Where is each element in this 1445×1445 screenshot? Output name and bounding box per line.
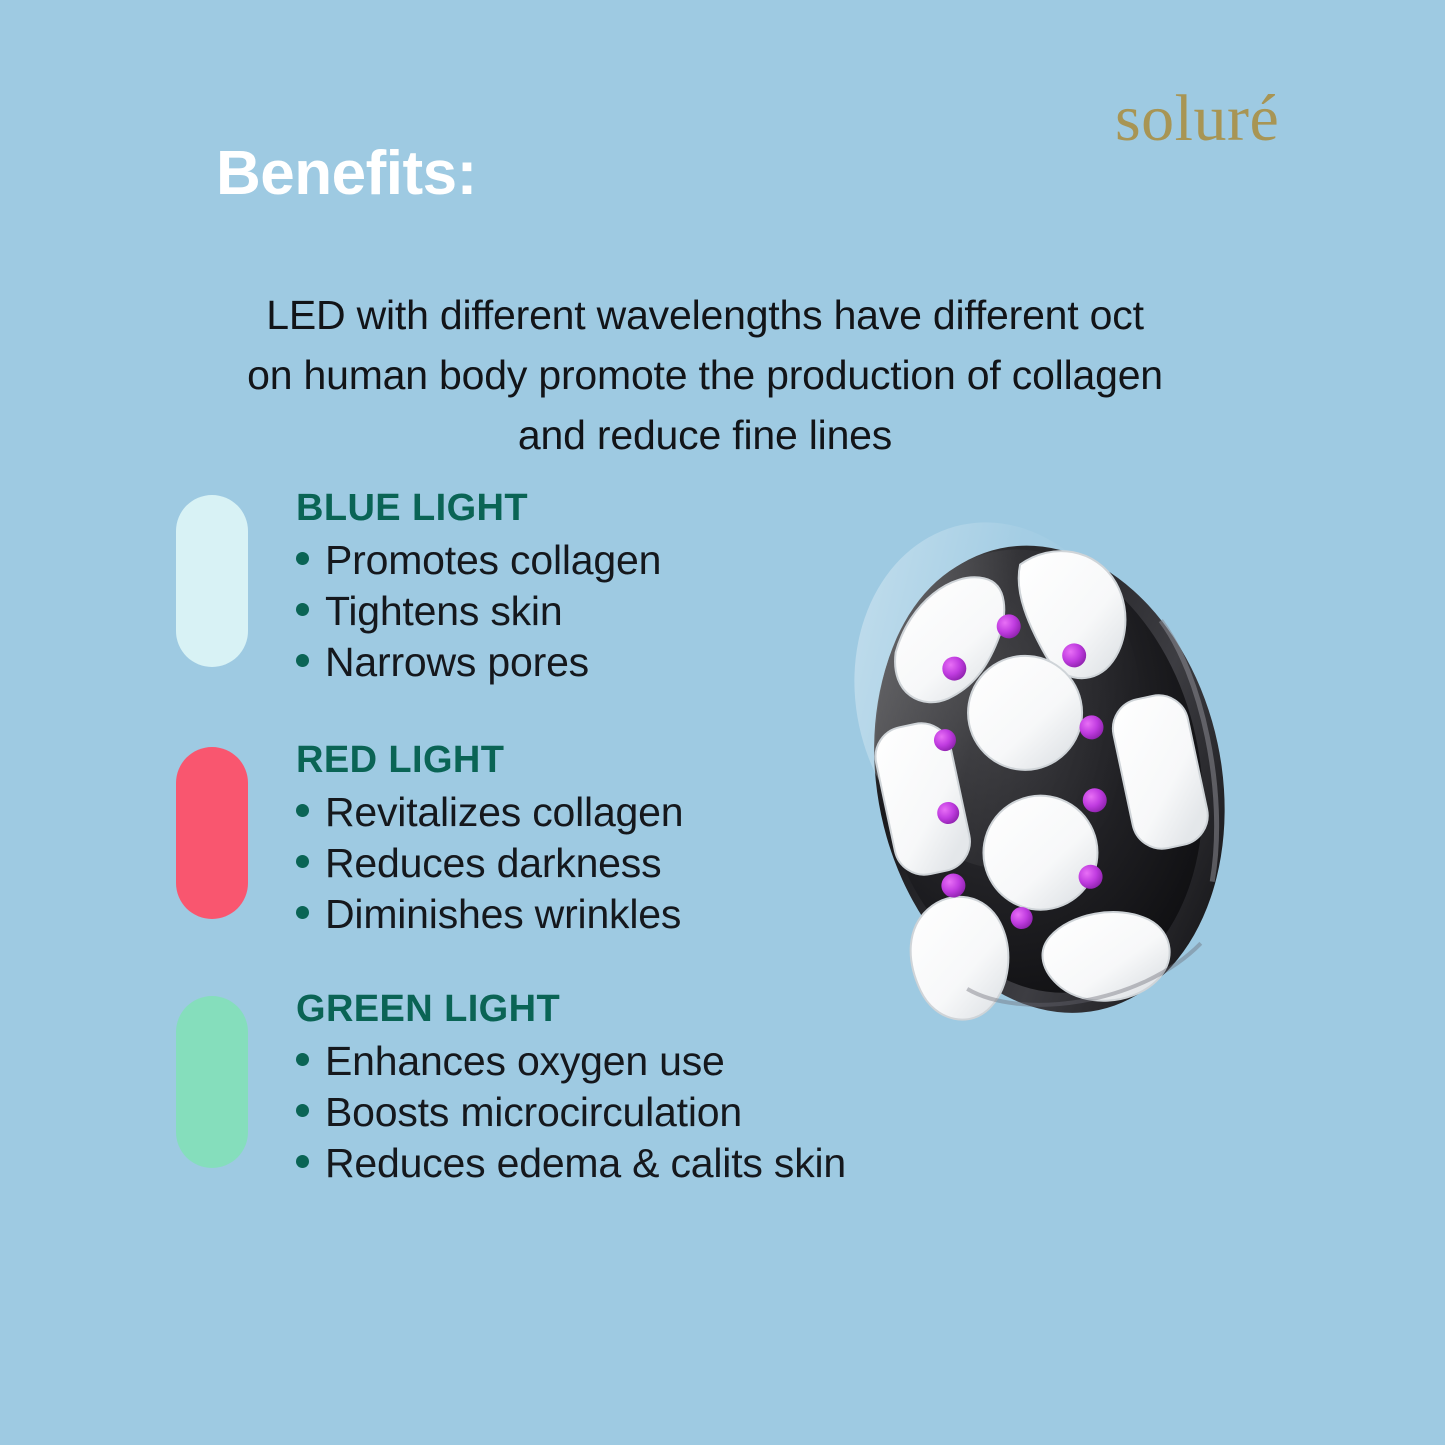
list-item: Diminishes wrinkles xyxy=(296,889,683,940)
list-item: Tightens skin xyxy=(296,586,661,637)
benefit-item-label: Promotes collagen xyxy=(325,535,661,586)
list-item: Promotes collagen xyxy=(296,535,661,586)
benefit-heading-blue-light: BLUE LIGHT xyxy=(296,486,661,532)
benefit-item-label: Tightens skin xyxy=(325,586,562,637)
benefit-text-blue-light: BLUE LIGHT Promotes collagen Tightens sk… xyxy=(296,486,661,688)
benefit-heading-red-light: RED LIGHT xyxy=(296,738,683,784)
color-swatch-green-light xyxy=(176,996,248,1168)
list-item: Narrows pores xyxy=(296,637,661,688)
benefit-heading-green-light: GREEN LIGHT xyxy=(296,987,846,1033)
intro-line-3: and reduce fine lines xyxy=(130,406,1280,466)
benefit-list-green-light: Enhances oxygen use Boosts microcirculat… xyxy=(296,1036,846,1190)
list-item: Reduces darkness xyxy=(296,838,683,889)
benefit-block-red-light: RED LIGHT Revitalizes collagen Reduces d… xyxy=(176,742,683,940)
benefit-list-red-light: Revitalizes collagen Reduces darkness Di… xyxy=(296,787,683,941)
bullet-icon xyxy=(296,654,309,667)
bullet-icon xyxy=(296,855,309,868)
benefit-list-blue-light: Promotes collagen Tightens skin Narrows … xyxy=(296,535,661,689)
bullet-icon xyxy=(296,906,309,919)
benefit-block-blue-light: BLUE LIGHT Promotes collagen Tightens sk… xyxy=(176,490,661,688)
benefit-item-label: Revitalizes collagen xyxy=(325,787,683,838)
intro-paragraph: LED with different wavelengths have diff… xyxy=(130,286,1280,466)
list-item: Revitalizes collagen xyxy=(296,787,683,838)
device-body-group xyxy=(823,498,1267,1046)
list-item: Boosts microcirculation xyxy=(296,1087,846,1138)
bullet-icon xyxy=(296,1053,309,1066)
color-swatch-blue-light xyxy=(176,495,248,667)
led-device-image xyxy=(820,498,1270,1048)
benefit-item-label: Diminishes wrinkles xyxy=(325,889,681,940)
benefit-item-label: Reduces edema & calits skin xyxy=(325,1138,846,1189)
benefit-block-green-light: GREEN LIGHT Enhances oxygen use Boosts m… xyxy=(176,991,846,1189)
bullet-icon xyxy=(296,603,309,616)
benefit-text-green-light: GREEN LIGHT Enhances oxygen use Boosts m… xyxy=(296,987,846,1189)
benefit-item-label: Reduces darkness xyxy=(325,838,661,889)
brand-logo: soluré xyxy=(1115,86,1365,152)
bullet-icon xyxy=(296,804,309,817)
benefit-text-red-light: RED LIGHT Revitalizes collagen Reduces d… xyxy=(296,738,683,940)
benefit-item-label: Narrows pores xyxy=(325,637,589,688)
benefit-item-label: Boosts microcirculation xyxy=(325,1087,742,1138)
bullet-icon xyxy=(296,552,309,565)
benefit-item-label: Enhances oxygen use xyxy=(325,1036,725,1087)
led-device-svg xyxy=(820,498,1270,1048)
bullet-icon xyxy=(296,1155,309,1168)
intro-line-1: LED with different wavelengths have diff… xyxy=(130,286,1280,346)
list-item: Enhances oxygen use xyxy=(296,1036,846,1087)
page-title: Benefits: xyxy=(216,141,477,206)
color-swatch-red-light xyxy=(176,747,248,919)
list-item: Reduces edema & calits skin xyxy=(296,1138,846,1189)
infographic-canvas: soluré Benefits: LED with different wave… xyxy=(0,0,1445,1445)
intro-line-2: on human body promote the production of … xyxy=(130,346,1280,406)
bullet-icon xyxy=(296,1104,309,1117)
